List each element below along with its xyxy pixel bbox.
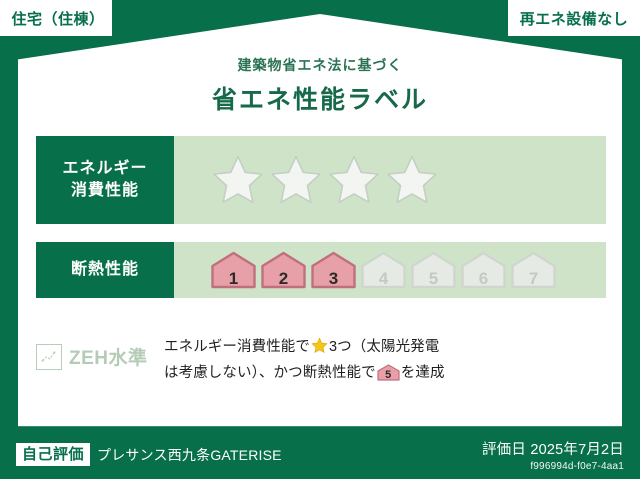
house-icon-empty: 5 <box>410 250 457 290</box>
house-icon-achieved: 3 <box>310 250 357 290</box>
zeh-desc-part1: エネルギー消費性能で <box>164 339 310 355</box>
evaluation-id: f996994d-f0e7-4aa1 <box>482 461 624 472</box>
house-icon-achieved: 1 <box>210 250 257 290</box>
zeh-desc-part3: を達成 <box>401 365 445 381</box>
star-icon-inline <box>311 337 328 362</box>
house-level-number: 5 <box>410 270 457 287</box>
house-icon-empty: 6 <box>460 250 507 290</box>
building-name: プレサンス西九条GATERISE <box>97 445 282 465</box>
house-icon-inline-number: 5 <box>377 370 400 381</box>
insulation-performance-label: 断熱性能 <box>36 242 174 298</box>
footer-left: 自己評価 プレサンス西九条GATERISE <box>16 443 482 466</box>
title-block: 建築物省エネ法に基づく 省エネ性能ラベル <box>0 55 640 116</box>
footer-divider <box>18 426 622 427</box>
house-icon-achieved: 2 <box>260 250 307 290</box>
house-level-number: 7 <box>510 270 557 287</box>
house-icon-empty: 7 <box>510 250 557 290</box>
energy-performance-label: エネルギー 消費性能 <box>36 136 174 224</box>
energy-performance-row: エネルギー 消費性能 <box>36 136 606 224</box>
house-level-number: 2 <box>260 270 307 287</box>
zeh-mark-label: ZEH水準 <box>69 343 148 370</box>
star-icon-empty <box>326 153 382 207</box>
zeh-desc-star-count: 3つ（太陽光発電 <box>329 339 439 355</box>
house-icon-inline: 5 <box>377 364 400 381</box>
energy-performance-label: 住宅（住棟） 再エネ設備なし 建築物省エネ法に基づく 省エネ性能ラベル エネルギ… <box>0 0 640 479</box>
insulation-performance-row: 断熱性能 1234567 <box>36 242 606 298</box>
star-rating <box>210 153 440 207</box>
badge-building-type: 住宅（住棟） <box>0 0 112 36</box>
badge-renewable-energy: 再エネ設備なし <box>508 0 640 36</box>
zeh-description: エネルギー消費性能で3つ（太陽光発電は考慮しない）、かつ断熱性能で5を達成 <box>164 336 606 386</box>
insulation-performance-body: 1234567 <box>174 242 606 298</box>
energy-performance-body <box>174 136 606 224</box>
zeh-chart-icon <box>36 344 62 370</box>
house-level-number: 1 <box>210 270 257 287</box>
zeh-mark: ZEH水準 <box>36 336 164 370</box>
star-icon-empty <box>268 153 324 207</box>
energy-label-line2: 消費性能 <box>71 180 139 202</box>
zeh-section: ZEH水準 エネルギー消費性能で3つ（太陽光発電は考慮しない）、かつ断熱性能で5… <box>36 336 606 386</box>
zeh-desc-part2: は考慮しない）、かつ断熱性能で <box>164 365 376 381</box>
title-subtitle: 建築物省エネ法に基づく <box>0 55 640 75</box>
house-icon-empty: 4 <box>360 250 407 290</box>
star-icon-empty <box>384 153 440 207</box>
house-level-number: 6 <box>460 270 507 287</box>
house-level-number: 3 <box>310 270 357 287</box>
footer-right: 評価日 2025年7月2日 f996994d-f0e7-4aa1 <box>482 438 624 472</box>
self-evaluation-badge: 自己評価 <box>16 443 90 466</box>
house-level-number: 4 <box>360 270 407 287</box>
energy-label-line1: エネルギー <box>62 158 147 180</box>
insulation-label-text: 断熱性能 <box>71 259 139 281</box>
insulation-level-scale: 1234567 <box>210 250 557 290</box>
evaluation-date: 評価日 2025年7月2日 <box>482 438 624 459</box>
star-icon-empty <box>210 153 266 207</box>
page-title: 省エネ性能ラベル <box>0 80 640 116</box>
footer: 自己評価 プレサンス西九条GATERISE 評価日 2025年7月2日 f996… <box>0 430 640 479</box>
